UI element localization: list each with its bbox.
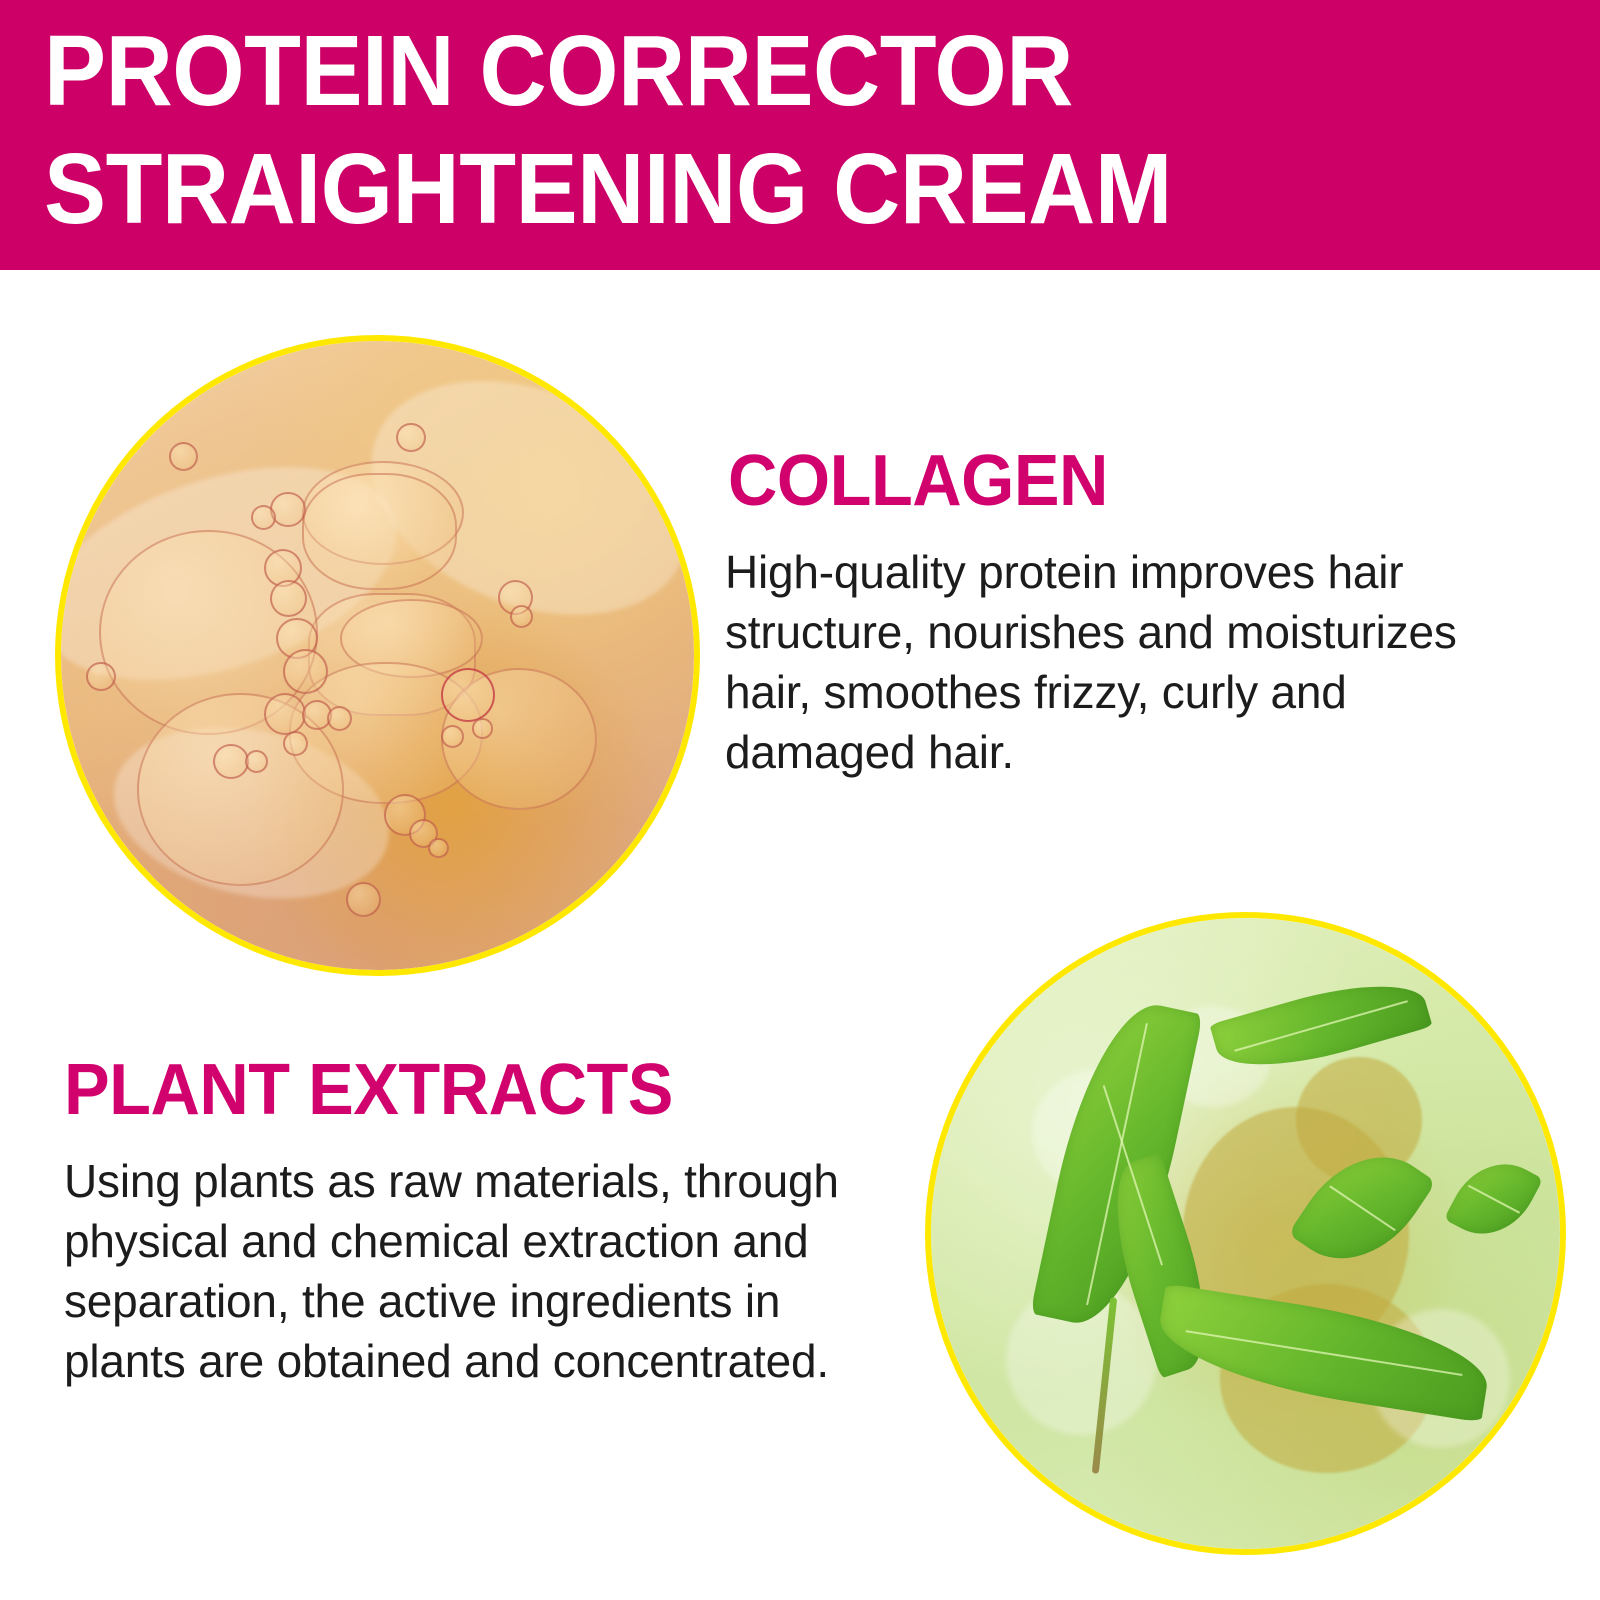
- plant-extracts-image-circle: [925, 912, 1566, 1555]
- plant-extracts-body-text: Using plants as raw materials, through p…: [64, 1151, 884, 1391]
- leaf-vein: [1186, 1330, 1463, 1376]
- oil-bubble: [441, 725, 464, 748]
- oil-bubble: [428, 838, 448, 858]
- oil-bubble: [86, 662, 115, 691]
- page-title: PROTEIN CORRECTOR STRAIGHTENING CREAM: [44, 12, 1491, 248]
- oil-bubble: [270, 580, 307, 617]
- collagen-image-circle: [55, 335, 700, 976]
- oil-bubble: [302, 473, 458, 590]
- leaf-vein: [1328, 1185, 1395, 1231]
- oil-bubble: [396, 423, 425, 452]
- header-banner: PROTEIN CORRECTOR STRAIGHTENING CREAM: [0, 0, 1600, 270]
- collagen-body-text: High-quality protein improves hair struc…: [725, 542, 1485, 782]
- collagen-heading: COLLAGEN: [728, 443, 1108, 519]
- oil-bubble: [472, 718, 492, 738]
- oil-bubble: [251, 505, 277, 530]
- collagen-image: [61, 341, 694, 970]
- oil-bubble: [264, 693, 306, 735]
- leaf-vein: [1468, 1184, 1520, 1213]
- plant-extracts-image: [931, 918, 1560, 1549]
- oil-bubble: [245, 750, 268, 773]
- oil-bubble: [270, 492, 306, 527]
- oil-bubble: [169, 442, 198, 471]
- oil-bubble: [283, 649, 328, 694]
- plant-extracts-heading: PLANT EXTRACTS: [64, 1052, 673, 1128]
- oil-bubble: [213, 744, 249, 779]
